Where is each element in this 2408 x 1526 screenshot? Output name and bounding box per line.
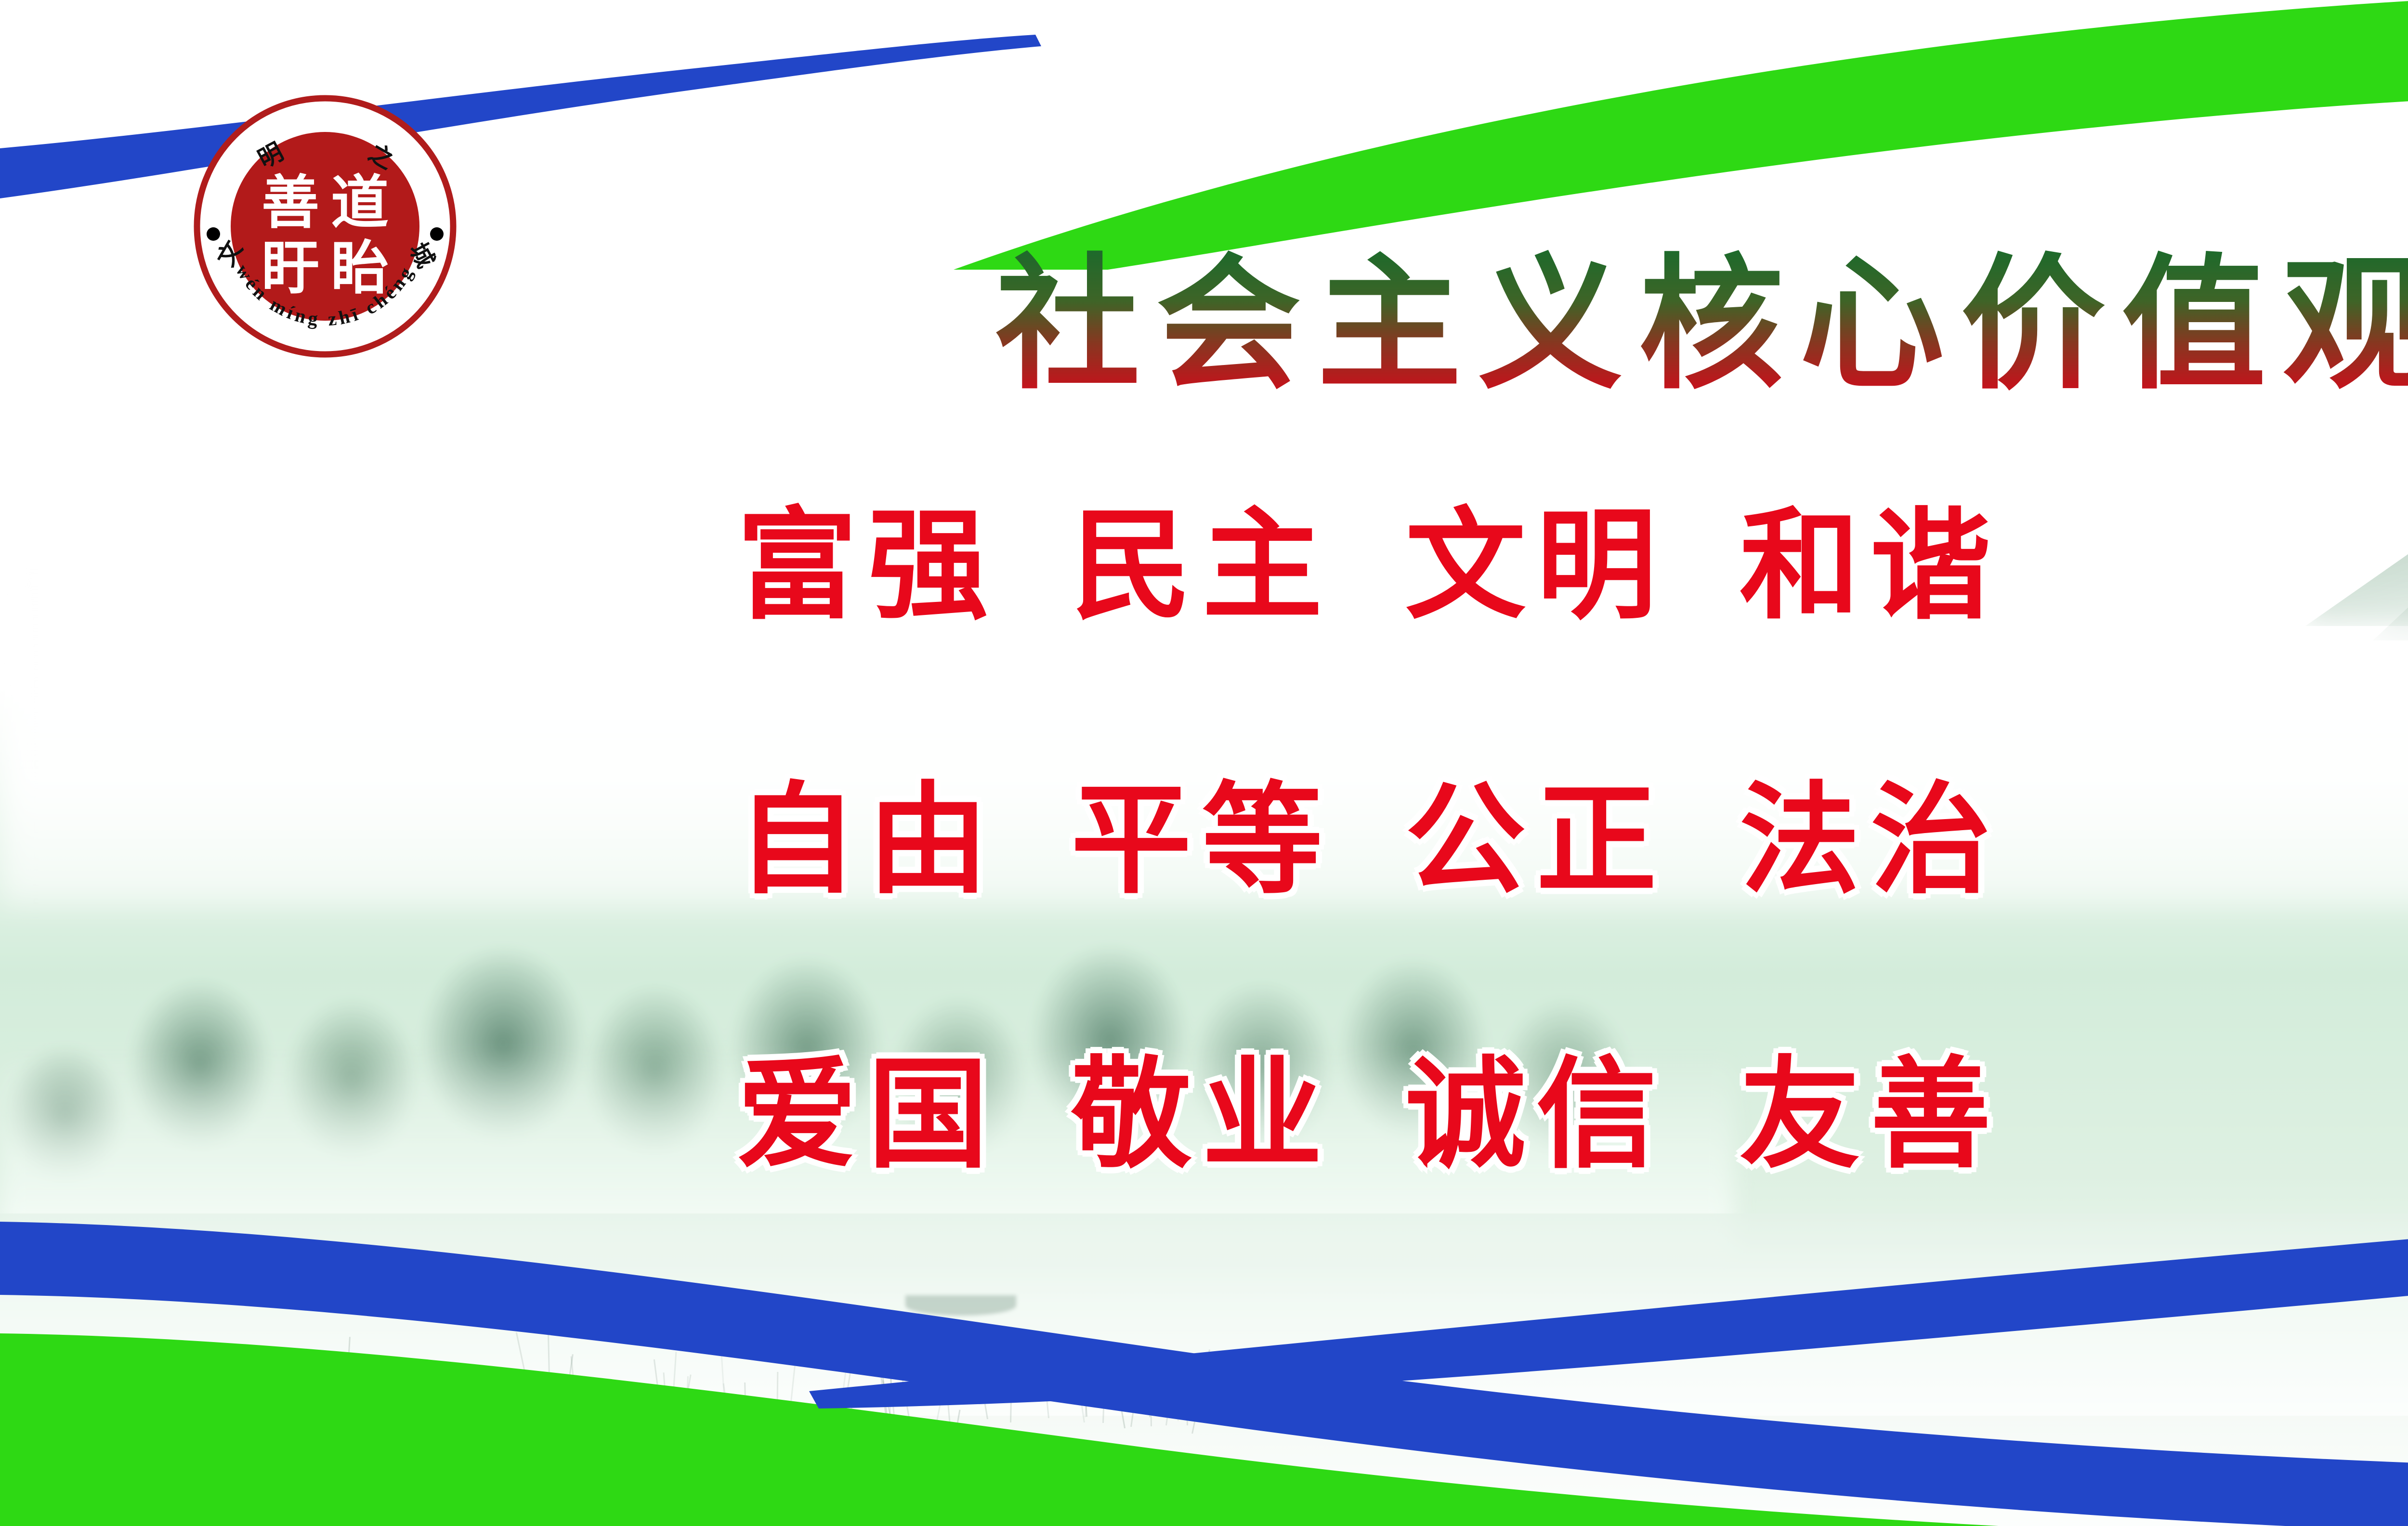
emblem-center-char-xu: 盱 bbox=[262, 235, 319, 302]
top-green-ribbon bbox=[954, 0, 2408, 270]
city-emblem[interactable]: 文 明 之 城 wén míng zhī chéng 善 道 盱 眙 bbox=[190, 91, 460, 361]
bottom-right-blue-ribbon bbox=[809, 1141, 2408, 1409]
mid-haze-band bbox=[0, 568, 2408, 905]
top-left-blue-ribbon bbox=[0, 35, 1041, 198]
bottom-ribbon-group bbox=[0, 1141, 2408, 1526]
emblem-center-char-yi: 眙 bbox=[331, 235, 389, 302]
emblem-center-char-dao: 道 bbox=[331, 170, 389, 236]
banner-poster: 文 明 之 城 wén míng zhī chéng 善 道 盱 眙 bbox=[0, 0, 2408, 1526]
emblem-center-char-shan: 善 bbox=[262, 170, 319, 236]
emblem-left-dot bbox=[207, 227, 220, 241]
emblem-right-dot bbox=[430, 227, 444, 241]
